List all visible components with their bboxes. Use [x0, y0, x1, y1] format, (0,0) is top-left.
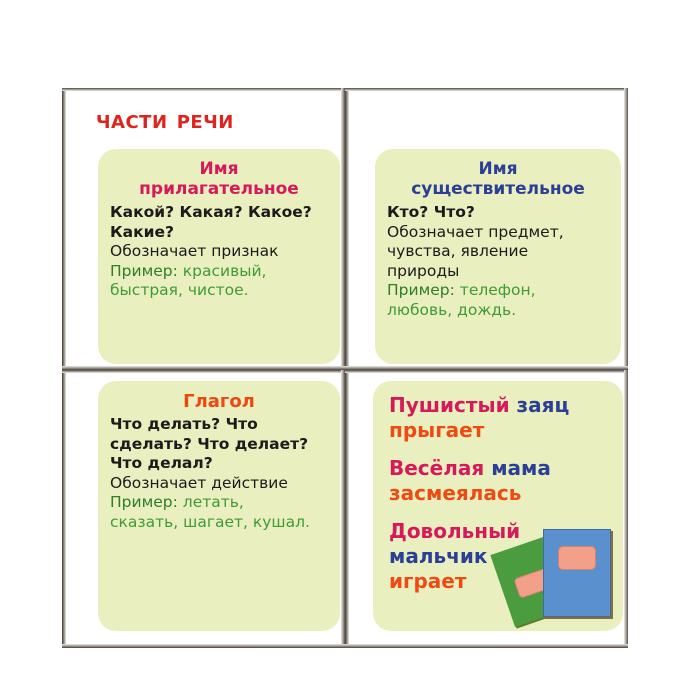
cube-face-bottom-left: Глагол Что делать? Что сделать? Что дела… [66, 373, 341, 644]
noun-example-line2: любовь, дождь. [387, 301, 609, 321]
noun-title-line2: существительное [387, 179, 609, 200]
verb-title: Глагол [110, 391, 328, 412]
cube-edge-bottom [62, 644, 345, 648]
sentence-2-adjective: Весёлая [389, 456, 491, 480]
cube-top-right[interactable]: Имя существительное Кто? Что? Обозначает… [345, 88, 628, 370]
page-title: ЧАСТИ РЕЧИ [96, 105, 326, 134]
card-adjective-content: Имя прилагательное Какой? Какая? Какое? … [98, 149, 340, 301]
sentence-1-adjective: Пушистый [389, 393, 517, 417]
adjective-title-line2: прилагательное [110, 179, 328, 200]
noun-definition-line2: чувства, явление [387, 242, 609, 262]
sentence-3-noun: мальчик [389, 544, 487, 568]
adjective-example-label: Пример: [110, 262, 178, 280]
adjective-example-line1: Пример: красивый, [110, 262, 328, 282]
cube-edge-top [345, 370, 628, 373]
adjective-question-1: Какой? Какая? Какое? [110, 203, 328, 223]
notebooks-illustration [499, 521, 617, 621]
cube-edge-bottom [345, 644, 628, 648]
blue-notebook-icon [543, 529, 611, 617]
card-noun-content: Имя существительное Кто? Что? Обозначает… [375, 149, 621, 320]
noun-title-line1: Имя [387, 159, 609, 180]
cube-edge-top [62, 370, 345, 373]
card-adjective: Имя прилагательное Какой? Какая? Какое? … [98, 149, 340, 364]
cube-edge-right [624, 370, 628, 648]
verb-example-words-1: летать, [178, 493, 244, 511]
sentence-2-noun: мама [491, 456, 551, 480]
card-noun: Имя существительное Кто? Что? Обозначает… [375, 149, 621, 364]
adjective-title-line1: Имя [110, 159, 328, 180]
cube-edge-left [62, 88, 66, 370]
cube-edge-left [62, 370, 66, 648]
sentence-2-verb: засмеялась [389, 481, 521, 505]
noun-definition-line3: природы [387, 262, 609, 282]
sentence-1-verb: прыгает [389, 418, 484, 442]
sentence-3-verb: играет [389, 569, 466, 593]
photo-canvas: ЧАСТИ РЕЧИ Имя прилагательное Какой? Как… [0, 0, 700, 700]
verb-example-line1: Пример: летать, [110, 493, 328, 513]
noun-question-1: Кто? Что? [387, 203, 609, 223]
adjective-example-words-1: красивый, [178, 262, 267, 280]
noun-example-line1: Пример: телефон, [387, 281, 609, 301]
cube-bottom-right[interactable]: Пушистый заяц прыгает Весёлая мама засме… [345, 370, 628, 648]
sentence-2: Весёлая мама засмеялась [385, 456, 611, 506]
adjective-definition: Обозначает признак [110, 242, 328, 262]
card-sentences: Пушистый заяц прыгает Весёлая мама засме… [373, 381, 623, 631]
cube-edge-left [345, 88, 349, 370]
cube-face-top-left: ЧАСТИ РЕЧИ Имя прилагательное Какой? Как… [66, 91, 341, 366]
blue-notebook-label [558, 546, 596, 570]
verb-example-line2: сказать, шагает, кушал. [110, 513, 328, 533]
noun-example-label: Пример: [387, 281, 455, 299]
adjective-example-line2: быстрая, чистое. [110, 281, 328, 301]
card-verb-content: Глагол Что делать? Что сделать? Что дела… [98, 381, 340, 532]
cube-edge-top [345, 88, 628, 91]
sentence-1: Пушистый заяц прыгает [385, 393, 611, 443]
cube-face-bottom-right: Пушистый заяц прыгает Весёлая мама засме… [349, 373, 624, 644]
adjective-question-2: Какие? [110, 223, 328, 243]
card-verb: Глагол Что делать? Что сделать? Что дела… [98, 381, 340, 631]
noun-example-words-1: телефон, [455, 281, 536, 299]
sentence-1-noun: заяц [517, 393, 570, 417]
cube-grid: ЧАСТИ РЕЧИ Имя прилагательное Какой? Как… [62, 88, 628, 648]
cube-top-left[interactable]: ЧАСТИ РЕЧИ Имя прилагательное Какой? Как… [62, 88, 345, 370]
verb-definition: Обозначает действие [110, 474, 328, 494]
cube-bottom-left[interactable]: Глагол Что делать? Что сделать? Что дела… [62, 370, 345, 648]
cube-edge-left [345, 370, 349, 648]
cube-edge-right [624, 88, 628, 370]
noun-definition-line1: Обозначает предмет, [387, 223, 609, 243]
verb-example-label: Пример: [110, 493, 178, 511]
verb-question-3: Что делал? [110, 454, 328, 474]
cube-edge-top [62, 88, 345, 91]
verb-question-1: Что делать? Что [110, 415, 328, 435]
cube-face-top-right: Имя существительное Кто? Что? Обозначает… [349, 91, 624, 366]
verb-question-2: сделать? Что делает? [110, 435, 328, 455]
